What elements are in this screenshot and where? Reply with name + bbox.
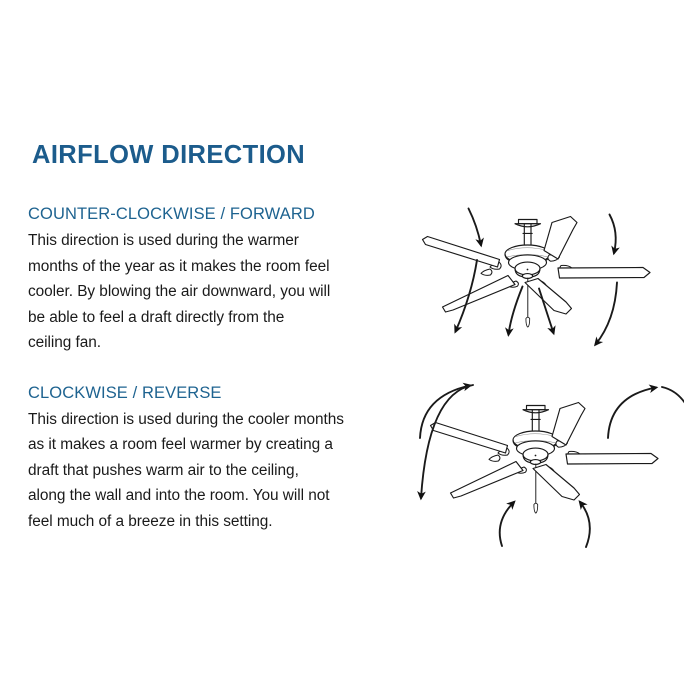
airflow-arrows-upward bbox=[420, 385, 684, 547]
text-column: COUNTER-CLOCKWISE / FORWARD This directi… bbox=[28, 205, 394, 534]
section-heading-counter-clockwise-forward: COUNTER-CLOCKWISE / FORWARD bbox=[28, 205, 394, 224]
ceiling-fan-reverse-diagram bbox=[392, 374, 684, 556]
body-line: along the wall and into the room. You wi… bbox=[28, 483, 394, 509]
ceiling-fan-forward-diagram bbox=[398, 202, 684, 378]
body-line: draft that pushes warm air to the ceilin… bbox=[28, 458, 394, 484]
body-line: as it makes a room feel warmer by creati… bbox=[28, 432, 394, 458]
body-line: months of the year as it makes the room … bbox=[28, 254, 394, 280]
body-line: be able to feel a draft directly from th… bbox=[28, 305, 394, 331]
page-title: AIRFLOW DIRECTION bbox=[32, 141, 305, 170]
section-body-clockwise-reverse: This direction is used during the cooler… bbox=[28, 407, 394, 535]
airflow-direction-page: AIRFLOW DIRECTION COUNTER-CLOCKWISE / FO… bbox=[0, 0, 700, 700]
fan-motor-housing bbox=[505, 245, 550, 278]
section-heading-clockwise-reverse: CLOCKWISE / REVERSE bbox=[28, 384, 394, 403]
section-counter-clockwise-forward: COUNTER-CLOCKWISE / FORWARD This directi… bbox=[28, 205, 394, 356]
fan-body-group bbox=[431, 403, 659, 514]
body-line: feel much of a breeze in this setting. bbox=[28, 509, 394, 535]
body-line: ceiling fan. bbox=[28, 330, 394, 356]
body-line: This direction is used during the cooler… bbox=[28, 407, 394, 433]
ceiling-fan-reverse-illustration bbox=[392, 374, 684, 556]
fan-mount-group bbox=[515, 220, 541, 245]
fan-mount-group bbox=[523, 406, 549, 431]
ceiling-fan-forward-illustration bbox=[398, 202, 684, 378]
body-line: cooler. By blowing the air downward, you… bbox=[28, 279, 394, 305]
body-line: This direction is used during the warmer bbox=[28, 228, 394, 254]
fan-motor-housing bbox=[513, 431, 558, 464]
section-body-counter-clockwise-forward: This direction is used during the warmer… bbox=[28, 228, 394, 356]
section-clockwise-reverse: CLOCKWISE / REVERSE This direction is us… bbox=[28, 384, 394, 535]
